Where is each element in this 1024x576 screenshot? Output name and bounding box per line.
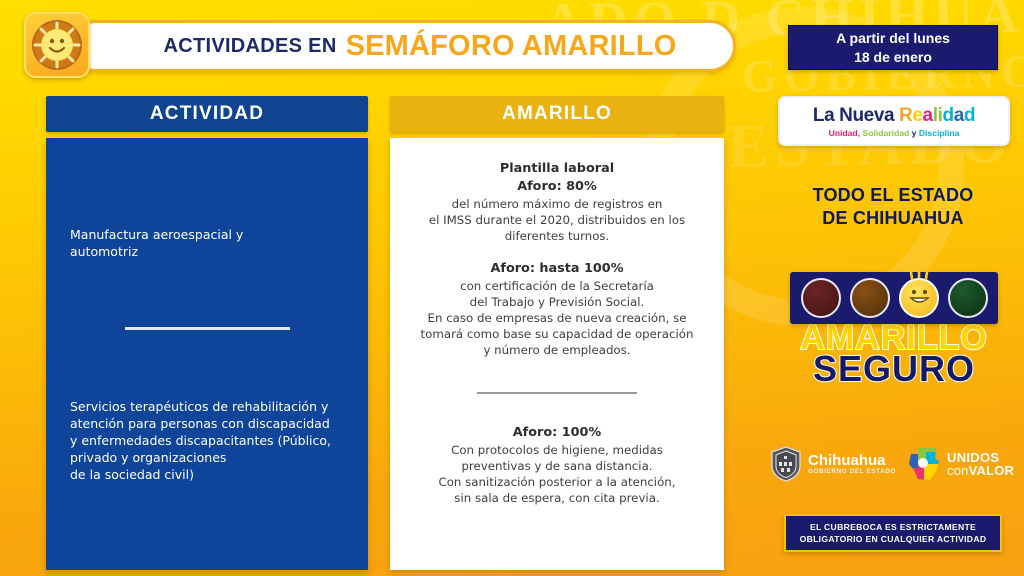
actividad-entry-2: Servicios terapéuticos de rehabilitación… <box>70 398 344 483</box>
semaforo-amarillo-seguro-graphic: AMARILLO SEGURO <box>790 272 998 388</box>
amarillo-block-1-strong: Plantilla laboralAforo: 80% <box>408 160 706 196</box>
traffic-light-green-lamp-icon <box>948 278 988 318</box>
start-date-box: A partir del lunes 18 de enero <box>788 25 998 70</box>
chihuahua-shield-icon <box>770 446 802 482</box>
realidad-colored-word: Realidad <box>899 105 975 126</box>
header-highlight: SEMÁFORO AMARILLO <box>346 30 677 63</box>
header-prefix: ACTIVIDADES EN <box>163 35 336 58</box>
cubreboca-notice: EL CUBREBOCA ES ESTRICTAMENTE OBLIGATORI… <box>784 514 1002 552</box>
realidad-letter: a <box>923 105 933 126</box>
actividad-entry-1: Manufactura aeroespacial yautomotriz <box>70 226 344 260</box>
column-amarillo-header: AMARILLO <box>390 96 724 132</box>
amarillo-block-3-strong: Aforo: 100% <box>408 424 706 442</box>
realidad-tagline-part: y <box>912 128 919 138</box>
realidad-prefix: La Nueva <box>813 105 894 126</box>
realidad-wordmark: La Nueva Realidad <box>813 105 975 126</box>
realidad-tagline-part: Unidad, <box>829 128 863 138</box>
traffic-light-red-lamp-icon <box>801 278 841 318</box>
header-title-bar: ACTIVIDADES EN SEMÁFORO AMARILLO <box>70 20 736 72</box>
unidos-con-valor-logo: UNIDOS conVALOR <box>906 446 1014 482</box>
unidos-logo-line2: conVALOR <box>947 464 1014 478</box>
unidos-logo-text: UNIDOS conVALOR <box>947 451 1014 478</box>
amarillo-block-2-body: con certificación de la Secretaríadel Tr… <box>408 278 706 358</box>
realidad-letter: a <box>954 105 964 126</box>
unidos-logo-con: con <box>947 463 969 478</box>
realidad-letter: d <box>943 105 954 126</box>
poster-header: ACTIVIDADES EN SEMÁFORO AMARILLO <box>24 10 736 80</box>
spacer-top <box>70 158 344 226</box>
spacer-mid <box>70 260 344 328</box>
realidad-letter: d <box>964 105 975 126</box>
government-logos-row: Chihuahua GOBIERNO DEL ESTADO <box>770 442 1018 486</box>
realidad-tagline-part: Solidaridad <box>862 128 911 138</box>
column-actividad-body: Manufactura aeroespacial yautomotriz Ser… <box>46 138 368 570</box>
start-date-line2: 18 de enero <box>854 48 932 67</box>
chihuahua-logo-text: Chihuahua GOBIERNO DEL ESTADO <box>808 453 896 475</box>
realidad-tagline-part: Disciplina <box>919 128 960 138</box>
column-actividad: ACTIVIDAD Manufactura aeroespacial yauto… <box>46 96 368 570</box>
column-amarillo: AMARILLO Plantilla laboralAforo: 80% del… <box>390 96 724 570</box>
cubreboca-line2: OBLIGATORIO EN CUALQUIER ACTIVIDAD <box>800 533 987 545</box>
amarillo-block-3: Aforo: 100% Con protocolos de higiene, m… <box>408 424 706 506</box>
chihuahua-logo-name: Chihuahua <box>808 453 896 468</box>
cubreboca-line1: EL CUBREBOCA ES ESTRICTAMENTE <box>810 521 976 533</box>
traffic-light-yellow-smiley-lamp-icon <box>899 278 939 318</box>
amarillo-block-2: Aforo: hasta 100% con certificación de l… <box>408 260 706 358</box>
amarillo-block-3-body: Con protocolos de higiene, medidaspreven… <box>408 442 706 506</box>
poster-canvas: ADO D CHIHUA GOBIERNO ESTADO ACTIVIDADES… <box>0 0 1024 576</box>
spacer-mid2 <box>70 330 344 398</box>
realidad-letter: R <box>899 105 912 126</box>
start-date-line1: A partir del lunes <box>836 29 950 48</box>
traffic-light-bar <box>790 272 998 324</box>
estado-title: TODO EL ESTADODE CHIHUAHUA <box>762 184 1024 230</box>
unidos-logo-valor: VALOR <box>969 463 1015 478</box>
amarillo-block-1: Plantilla laboralAforo: 80% del número m… <box>408 160 706 244</box>
column-actividad-header: ACTIVIDAD <box>46 96 368 132</box>
la-nueva-realidad-logo: La Nueva Realidad Unidad, Solidaridad y … <box>778 96 1010 146</box>
smiling-sun-icon <box>24 12 90 78</box>
amarillo-block-1-body: del número máximo de registros enel IMSS… <box>408 196 706 244</box>
column-amarillo-body: Plantilla laboralAforo: 80% del número m… <box>390 138 724 570</box>
semaforo-word-seguro: SEGURO <box>790 350 998 388</box>
right-rail: A partir del lunes 18 de enero La Nueva … <box>762 0 1024 576</box>
spacer-bottom <box>70 483 344 551</box>
amarillo-block-2-strong: Aforo: hasta 100% <box>408 260 706 278</box>
realidad-tagline: Unidad, Solidaridad y Disciplina <box>829 128 960 138</box>
traffic-light-amber-lamp-icon <box>850 278 890 318</box>
chihuahua-government-logo: Chihuahua GOBIERNO DEL ESTADO <box>770 446 896 482</box>
chihuahua-state-map-icon <box>906 446 942 482</box>
realidad-letter: e <box>912 105 922 126</box>
chihuahua-logo-subtitle: GOBIERNO DEL ESTADO <box>808 468 896 475</box>
